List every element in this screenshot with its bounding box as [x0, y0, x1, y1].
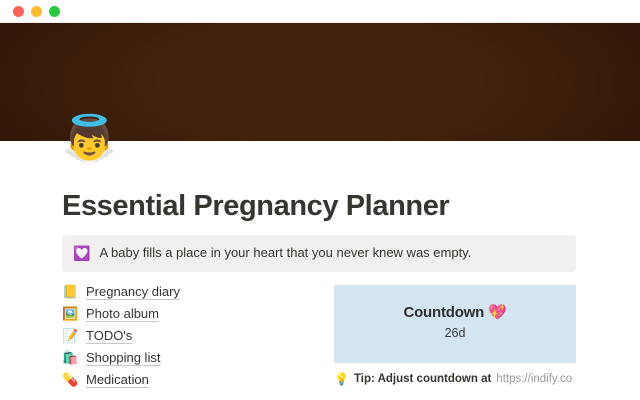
list-item[interactable]: 📝 TODO's	[62, 325, 312, 347]
countdown-widget[interactable]: Countdown 💖 26d	[334, 285, 576, 363]
sub-page-links: 📒 Pregnancy diary 🖼️ Photo album 📝 TODO'…	[62, 281, 312, 391]
pill-icon: 💊	[62, 372, 78, 388]
light-bulb-icon: 💡	[334, 372, 349, 386]
minimize-button[interactable]	[31, 6, 42, 17]
countdown-value: 26d	[445, 326, 466, 340]
tip-url-link[interactable]: https://indify.co	[496, 373, 572, 385]
list-item[interactable]: 💊 Medication	[62, 369, 312, 391]
link-photo-album[interactable]: Photo album	[86, 306, 159, 321]
heart-decoration-icon: 💟	[73, 244, 90, 262]
link-medication[interactable]: Medication	[86, 372, 149, 387]
page-title: Essential Pregnancy Planner	[62, 190, 449, 223]
memo-icon: 📝	[62, 328, 78, 344]
list-item[interactable]: 🛍️ Shopping list	[62, 347, 312, 369]
framed-picture-icon: 🖼️	[62, 306, 78, 322]
shopping-bags-icon: 🛍️	[62, 350, 78, 366]
close-button[interactable]	[13, 6, 24, 17]
list-item[interactable]: 📒 Pregnancy diary	[62, 281, 312, 303]
list-item[interactable]: 🖼️ Photo album	[62, 303, 312, 325]
maximize-button[interactable]	[49, 6, 60, 17]
tip-label: Tip: Adjust countdown at	[354, 373, 491, 385]
ledger-icon: 📒	[62, 284, 78, 300]
quote-callout: 💟 A baby fills a place in your heart tha…	[62, 235, 576, 272]
title-bar	[0, 0, 640, 23]
link-shopping-list[interactable]: Shopping list	[86, 350, 160, 365]
app-window: 👼 Essential Pregnancy Planner 💟 A baby f…	[0, 0, 640, 400]
tip-row: 💡 Tip: Adjust countdown at https://indif…	[334, 372, 572, 386]
link-pregnancy-diary[interactable]: Pregnancy diary	[86, 284, 180, 299]
countdown-title: Countdown 💖	[403, 303, 506, 321]
callout-text: A baby fills a place in your heart that …	[99, 244, 471, 262]
link-todos[interactable]: TODO's	[86, 328, 132, 343]
baby-angel-icon[interactable]: 👼	[62, 115, 117, 163]
